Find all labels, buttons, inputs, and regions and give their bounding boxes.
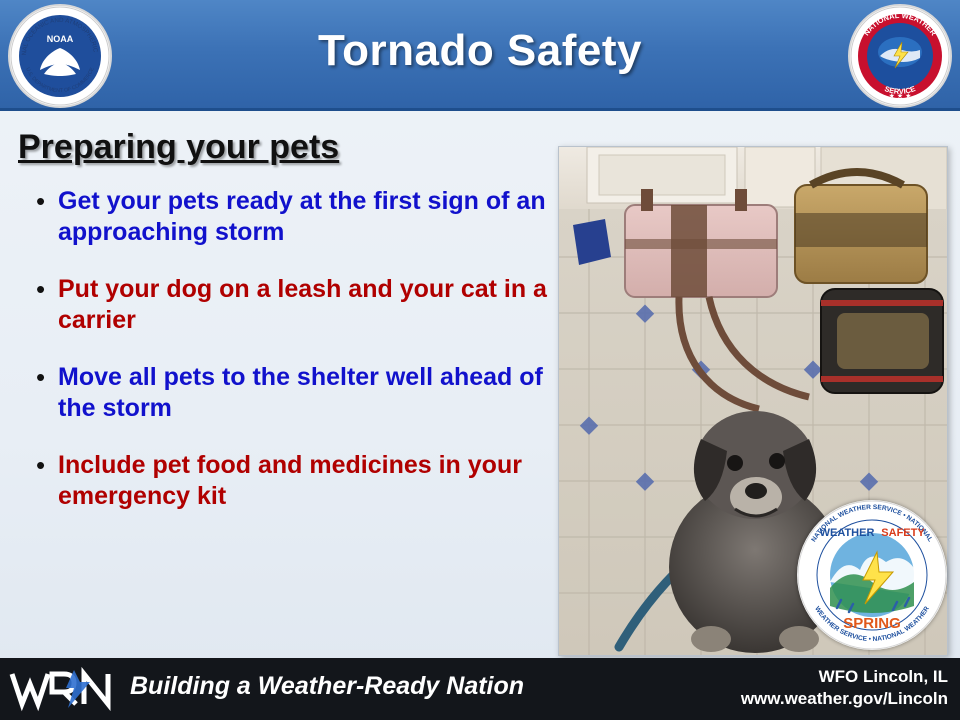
svg-text:SPRING: SPRING bbox=[843, 615, 901, 632]
nws-logo: NATIONAL WEATHER SERVICE ★ ★ ★ bbox=[848, 4, 952, 108]
slide-header: NATIONAL OCEANIC AND ATMOSPHERIC ADMIN U… bbox=[0, 0, 960, 111]
svg-text:SAFETY: SAFETY bbox=[881, 527, 925, 539]
bullet-text: Include pet food and medicines in your e… bbox=[58, 450, 556, 512]
bullet-text: Get your pets ready at the first sign of… bbox=[58, 186, 556, 248]
list-item: • Get your pets ready at the first sign … bbox=[36, 186, 556, 248]
bullet-marker: • bbox=[36, 362, 58, 424]
slide: NATIONAL OCEANIC AND ATMOSPHERIC ADMIN U… bbox=[0, 0, 960, 720]
bullet-marker: • bbox=[36, 186, 58, 248]
bullet-text: Put your dog on a leash and your cat in … bbox=[58, 274, 556, 336]
list-item: • Move all pets to the shelter well ahea… bbox=[36, 362, 556, 424]
nws-logo-icon: NATIONAL WEATHER SERVICE ★ ★ ★ bbox=[850, 6, 950, 106]
wrn-logo-icon bbox=[8, 664, 118, 714]
list-item: • Include pet food and medicines in your… bbox=[36, 450, 556, 512]
bullet-marker: • bbox=[36, 274, 58, 336]
section-heading: Preparing your pets bbox=[18, 128, 339, 167]
weather-safety-spring-badge: NATIONAL WEATHER SERVICE • NATIONAL WEAT… bbox=[797, 500, 947, 650]
page-title: Tornado Safety bbox=[0, 26, 960, 76]
list-item: • Put your dog on a leash and your cat i… bbox=[36, 274, 556, 336]
footer-tagline: Building a Weather-Ready Nation bbox=[130, 672, 524, 701]
bullet-list: • Get your pets ready at the first sign … bbox=[36, 186, 556, 538]
bullet-text: Move all pets to the shelter well ahead … bbox=[58, 362, 556, 424]
footer-office: WFO Lincoln, IL bbox=[741, 666, 948, 688]
footer-website[interactable]: www.weather.gov/Lincoln bbox=[741, 688, 948, 710]
footer-office-info: WFO Lincoln, IL www.weather.gov/Lincoln bbox=[741, 666, 948, 710]
slide-footer: Building a Weather-Ready Nation WFO Linc… bbox=[0, 658, 960, 720]
svg-text:★ ★ ★: ★ ★ ★ bbox=[889, 92, 912, 100]
bullet-marker: • bbox=[36, 450, 58, 512]
svg-text:WEATHER: WEATHER bbox=[820, 527, 875, 539]
weather-safety-spring-badge-icon: NATIONAL WEATHER SERVICE • NATIONAL WEAT… bbox=[797, 500, 947, 650]
